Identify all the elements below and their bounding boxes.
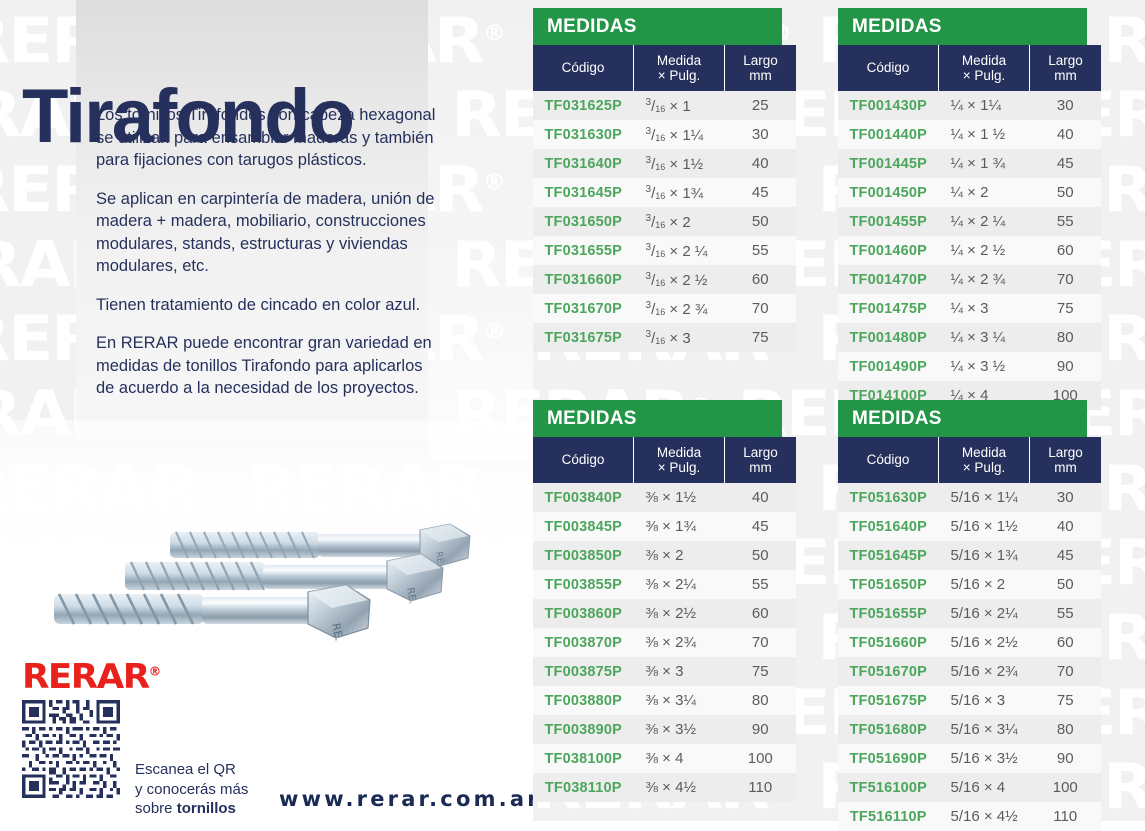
- cell-codigo: TF516100P: [838, 773, 939, 802]
- table-row: TF031650P3/16 × 250: [533, 207, 796, 236]
- cell-largo: 50: [1030, 570, 1102, 599]
- cell-largo: 30: [1030, 483, 1102, 512]
- cell-codigo: TF031670P: [533, 294, 634, 323]
- column-header-codigo: Código: [838, 437, 939, 483]
- white-fade-right: [428, 0, 533, 460]
- column-header-largo: Largomm: [725, 437, 797, 483]
- cell-codigo: TF031675P: [533, 323, 634, 352]
- rerar-logo-text: RERAR: [22, 657, 149, 697]
- measurements-table-5-16: MEDIDAS Código Medida× Pulg. Largomm TF0…: [838, 400, 1087, 831]
- cell-codigo: TF051675P: [838, 686, 939, 715]
- table-row: TF003860P⅜ × 2½60: [533, 599, 796, 628]
- cell-largo: 40: [725, 483, 797, 512]
- table-row: TF051660P5/16 × 2½60: [838, 628, 1101, 657]
- table-header-row: Código Medida× Pulg. Largomm: [838, 437, 1101, 483]
- cell-codigo: TF003890P: [533, 715, 634, 744]
- table-row: TF031675P3/16 × 375: [533, 323, 796, 352]
- cell-medida: ¼ × 3 ¼: [939, 323, 1030, 352]
- cell-codigo: TF003855P: [533, 570, 634, 599]
- cell-largo: 45: [1030, 149, 1102, 178]
- cell-medida: 3/16 × 2: [634, 207, 725, 236]
- table-body: TF003840P⅜ × 1½40TF003845P⅜ × 1¾45TF0038…: [533, 483, 796, 802]
- table-row: TF031670P3/16 × 2 ¾70: [533, 294, 796, 323]
- cell-codigo: TF001480P: [838, 323, 939, 352]
- cell-codigo: TF031640P: [533, 149, 634, 178]
- cell-codigo: TF001430P: [838, 91, 939, 120]
- cell-codigo: TF031655P: [533, 236, 634, 265]
- cell-largo: 70: [1030, 265, 1102, 294]
- table-row: TF051670P5/16 × 2¾70: [838, 657, 1101, 686]
- column-header-codigo: Código: [533, 45, 634, 91]
- cell-largo: 75: [725, 323, 797, 352]
- description-copy: Los tornillos Tirafondos con cabeza hexa…: [96, 104, 441, 416]
- cell-medida: 3/16 × 1½: [634, 149, 725, 178]
- cell-medida: ⅜ × 4: [634, 744, 725, 773]
- cell-largo: 30: [1030, 91, 1102, 120]
- cell-medida: ¼ × 2 ¾: [939, 265, 1030, 294]
- table-title: MEDIDAS: [533, 400, 782, 437]
- table-row: TF003880P⅜ × 3¼80: [533, 686, 796, 715]
- table-body: TF031625P3/16 × 125TF031630P3/16 × 1¼30T…: [533, 91, 796, 352]
- table-row: TF051640P5/16 × 1½40: [838, 512, 1101, 541]
- cell-largo: 100: [1030, 773, 1102, 802]
- table-row: TF051675P5/16 × 375: [838, 686, 1101, 715]
- cell-medida: ¼ × 1 ¾: [939, 149, 1030, 178]
- cell-medida: ⅜ × 3¼: [634, 686, 725, 715]
- cell-medida: 5/16 × 3¼: [939, 715, 1030, 744]
- cell-largo: 45: [725, 178, 797, 207]
- cell-codigo: TF001475P: [838, 294, 939, 323]
- table-row: TF051655P5/16 × 2¼55: [838, 599, 1101, 628]
- table-row: TF031645P3/16 × 1¾45: [533, 178, 796, 207]
- cell-codigo: TF051650P: [838, 570, 939, 599]
- cell-medida: ¼ × 1 ½: [939, 120, 1030, 149]
- cell-largo: 30: [725, 120, 797, 149]
- cell-largo: 100: [725, 744, 797, 773]
- qr-caption-line-3: sobre tornillos: [135, 799, 248, 819]
- cell-largo: 55: [1030, 599, 1102, 628]
- cell-codigo: TF031660P: [533, 265, 634, 294]
- cell-medida: 5/16 × 2¾: [939, 657, 1030, 686]
- cell-largo: 50: [725, 541, 797, 570]
- cell-largo: 90: [725, 715, 797, 744]
- table-row: TF051650P5/16 × 250: [838, 570, 1101, 599]
- cell-medida: ¼ × 1¼: [939, 91, 1030, 120]
- cell-codigo: TF003840P: [533, 483, 634, 512]
- table-row: TF001440P¼ × 1 ½40: [838, 120, 1101, 149]
- table-row: TF003850P⅜ × 250: [533, 541, 796, 570]
- table-row: TF001480P¼ × 3 ¼80: [838, 323, 1101, 352]
- cell-largo: 55: [725, 236, 797, 265]
- svg-text:RE.: RE.: [329, 622, 345, 642]
- table-body: TF051630P5/16 × 1¼30TF051640P5/16 × 1½40…: [838, 483, 1101, 831]
- table-header-row: Código Medida× Pulg. Largomm: [533, 45, 796, 91]
- qr-caption-line-2: y conocerás más: [135, 780, 248, 800]
- cell-medida: 3/16 × 2 ¼: [634, 236, 725, 265]
- table: Código Medida× Pulg. Largomm TF031625P3/…: [533, 45, 796, 352]
- cell-largo: 80: [725, 686, 797, 715]
- cell-medida: ¼ × 2 ¼: [939, 207, 1030, 236]
- cell-largo: 40: [1030, 512, 1102, 541]
- table-row: TF003855P⅜ × 2¼55: [533, 570, 796, 599]
- column-header-medida: Medida× Pulg.: [634, 437, 725, 483]
- cell-medida: 5/16 × 2¼: [939, 599, 1030, 628]
- cell-medida: ⅜ × 1¾: [634, 512, 725, 541]
- table-row: TF003840P⅜ × 1½40: [533, 483, 796, 512]
- cell-medida: ⅜ × 1½: [634, 483, 725, 512]
- cell-medida: 5/16 × 4½: [939, 802, 1030, 831]
- table: Código Medida× Pulg. Largomm TF003840P⅜ …: [533, 437, 796, 802]
- cell-largo: 60: [1030, 628, 1102, 657]
- table-row: TF001490P¼ × 3 ½90: [838, 352, 1101, 381]
- qr-caption-line-1: Escanea el QR: [135, 760, 248, 780]
- table-row: TF051630P5/16 × 1¼30: [838, 483, 1101, 512]
- table-row: TF051645P5/16 × 1¾45: [838, 541, 1101, 570]
- registered-mark: ®: [149, 665, 160, 679]
- table-title: MEDIDAS: [838, 400, 1087, 437]
- cell-medida: 3/16 × 1¼: [634, 120, 725, 149]
- cell-largo: 110: [725, 773, 797, 802]
- cell-codigo: TF003845P: [533, 512, 634, 541]
- table-row: TF031625P3/16 × 125: [533, 91, 796, 120]
- cell-largo: 45: [725, 512, 797, 541]
- cell-largo: 90: [1030, 744, 1102, 773]
- cell-medida: ¼ × 2 ½: [939, 236, 1030, 265]
- cell-medida: 5/16 × 2½: [939, 628, 1030, 657]
- qr-caption-prefix: sobre: [135, 800, 177, 817]
- cell-codigo: TF001445P: [838, 149, 939, 178]
- website-url[interactable]: www.rerar.com.ar: [279, 787, 541, 811]
- column-header-medida: Medida× Pulg.: [939, 437, 1030, 483]
- cell-codigo: TF031645P: [533, 178, 634, 207]
- column-header-largo: Largomm: [725, 45, 797, 91]
- cell-codigo: TF051680P: [838, 715, 939, 744]
- table-row: TF038100P⅜ × 4100: [533, 744, 796, 773]
- cell-codigo: TF051660P: [838, 628, 939, 657]
- cell-medida: ⅜ × 2¾: [634, 628, 725, 657]
- table-header-row: Código Medida× Pulg. Largomm: [533, 437, 796, 483]
- cell-codigo: TF003850P: [533, 541, 634, 570]
- rerar-logo: RERAR®: [22, 657, 160, 697]
- cell-largo: 60: [1030, 236, 1102, 265]
- table-row: TF031640P3/16 × 1½40: [533, 149, 796, 178]
- cell-largo: 80: [1030, 715, 1102, 744]
- table-row: TF001460P¼ × 2 ½60: [838, 236, 1101, 265]
- column-header-largo: Largomm: [1030, 437, 1102, 483]
- table-row: TF001470P¼ × 2 ¾70: [838, 265, 1101, 294]
- cell-largo: 110: [1030, 802, 1102, 831]
- cell-codigo: TF051655P: [838, 599, 939, 628]
- cell-largo: 75: [1030, 294, 1102, 323]
- table-row: TF001430P¼ × 1¼30: [838, 91, 1101, 120]
- cell-codigo: TF031625P: [533, 91, 634, 120]
- cell-largo: 50: [1030, 178, 1102, 207]
- cell-codigo: TF031630P: [533, 120, 634, 149]
- cell-codigo: TF001460P: [838, 236, 939, 265]
- cell-medida: ⅜ × 2½: [634, 599, 725, 628]
- copy-paragraph-3: Tienen tratamiento de cincado en color a…: [96, 294, 441, 317]
- cell-largo: 60: [725, 599, 797, 628]
- table-row: TF003870P⅜ × 2¾70: [533, 628, 796, 657]
- measurements-table-3-16: MEDIDAS Código Medida× Pulg. Largomm TF0…: [533, 8, 782, 352]
- table-row: TF001450P¼ × 250: [838, 178, 1101, 207]
- qr-caption: Escanea el QR y conocerás más sobre torn…: [135, 760, 248, 819]
- cell-codigo: TF003880P: [533, 686, 634, 715]
- cell-codigo: TF001450P: [838, 178, 939, 207]
- cell-medida: 3/16 × 3: [634, 323, 725, 352]
- qr-code[interactable]: [22, 700, 120, 798]
- cell-largo: 55: [1030, 207, 1102, 236]
- measurements-table-1-4: MEDIDAS Código Medida× Pulg. Largomm TF0…: [838, 8, 1087, 410]
- cell-largo: 40: [725, 149, 797, 178]
- copy-paragraph-2: Se aplican en carpintería de madera, uni…: [96, 188, 441, 278]
- table-row: TF001475P¼ × 375: [838, 294, 1101, 323]
- table-row: TF031660P3/16 × 2 ½60: [533, 265, 796, 294]
- cell-medida: ⅜ × 3: [634, 657, 725, 686]
- cell-largo: 70: [725, 628, 797, 657]
- table-title: MEDIDAS: [533, 8, 782, 45]
- cell-codigo: TF051630P: [838, 483, 939, 512]
- table-row: TF003875P⅜ × 375: [533, 657, 796, 686]
- column-header-medida: Medida× Pulg.: [939, 45, 1030, 91]
- cell-medida: 3/16 × 2 ¾: [634, 294, 725, 323]
- cell-medida: 3/16 × 1¾: [634, 178, 725, 207]
- cell-medida: ⅜ × 3½: [634, 715, 725, 744]
- column-header-largo: Largomm: [1030, 45, 1102, 91]
- table-row: TF516100P5/16 × 4100: [838, 773, 1101, 802]
- cell-medida: 3/16 × 1: [634, 91, 725, 120]
- table: Código Medida× Pulg. Largomm TF051630P5/…: [838, 437, 1101, 831]
- cell-largo: 60: [725, 265, 797, 294]
- cell-codigo: TF051690P: [838, 744, 939, 773]
- table-row: TF001445P¼ × 1 ¾45: [838, 149, 1101, 178]
- cell-medida: 5/16 × 3: [939, 686, 1030, 715]
- column-header-codigo: Código: [533, 437, 634, 483]
- cell-medida: 5/16 × 3½: [939, 744, 1030, 773]
- cell-medida: 5/16 × 2: [939, 570, 1030, 599]
- cell-largo: 90: [1030, 352, 1102, 381]
- cell-codigo: TF001470P: [838, 265, 939, 294]
- cell-largo: 55: [725, 570, 797, 599]
- cell-codigo: TF051670P: [838, 657, 939, 686]
- cell-codigo: TF001455P: [838, 207, 939, 236]
- cell-largo: 45: [1030, 541, 1102, 570]
- cell-largo: 70: [725, 294, 797, 323]
- cell-codigo: TF051640P: [838, 512, 939, 541]
- table: Código Medida× Pulg. Largomm TF001430P¼ …: [838, 45, 1101, 410]
- table-row: TF051680P5/16 × 3¼80: [838, 715, 1101, 744]
- cell-codigo: TF038100P: [533, 744, 634, 773]
- cell-medida: 5/16 × 4: [939, 773, 1030, 802]
- cell-medida: 5/16 × 1½: [939, 512, 1030, 541]
- cell-medida: 5/16 × 1¼: [939, 483, 1030, 512]
- column-header-medida: Medida× Pulg.: [634, 45, 725, 91]
- cell-codigo: TF001490P: [838, 352, 939, 381]
- cell-codigo: TF516110P: [838, 802, 939, 831]
- cell-medida: 5/16 × 1¾: [939, 541, 1030, 570]
- svg-text:RE.: RE.: [404, 587, 418, 605]
- cell-medida: ¼ × 3: [939, 294, 1030, 323]
- measurements-table-3-8: MEDIDAS Código Medida× Pulg. Largomm TF0…: [533, 400, 782, 802]
- cell-codigo: TF003860P: [533, 599, 634, 628]
- cell-largo: 70: [1030, 657, 1102, 686]
- table-row: TF051690P5/16 × 3½90: [838, 744, 1101, 773]
- table-body: TF001430P¼ × 1¼30TF001440P¼ × 1 ½40TF001…: [838, 91, 1101, 410]
- table-row: TF031655P3/16 × 2 ¼55: [533, 236, 796, 265]
- cell-medida: ¼ × 2: [939, 178, 1030, 207]
- table-row: TF516110P5/16 × 4½110: [838, 802, 1101, 831]
- table-row: TF003845P⅜ × 1¾45: [533, 512, 796, 541]
- cell-medida: ⅜ × 2¼: [634, 570, 725, 599]
- cell-codigo: TF003875P: [533, 657, 634, 686]
- cell-codigo: TF001440P: [838, 120, 939, 149]
- column-header-codigo: Código: [838, 45, 939, 91]
- cell-largo: 75: [725, 657, 797, 686]
- qr-caption-bold: tornillos: [177, 800, 236, 817]
- cell-codigo: TF051645P: [838, 541, 939, 570]
- table-title: MEDIDAS: [838, 8, 1087, 45]
- table-row: TF001455P¼ × 2 ¼55: [838, 207, 1101, 236]
- cell-largo: 80: [1030, 323, 1102, 352]
- cell-largo: 40: [1030, 120, 1102, 149]
- cell-largo: 75: [1030, 686, 1102, 715]
- table-row: TF038110P⅜ × 4½110: [533, 773, 796, 802]
- table-row: TF031630P3/16 × 1¼30: [533, 120, 796, 149]
- copy-paragraph-4: En RERAR puede encontrar gran variedad e…: [96, 332, 441, 400]
- copy-paragraph-1: Los tornillos Tirafondos con cabeza hexa…: [96, 104, 441, 172]
- cell-codigo: TF003870P: [533, 628, 634, 657]
- cell-largo: 25: [725, 91, 797, 120]
- cell-codigo: TF031650P: [533, 207, 634, 236]
- cell-largo: 50: [725, 207, 797, 236]
- table-row: TF003890P⅜ × 3½90: [533, 715, 796, 744]
- cell-medida: 3/16 × 2 ½: [634, 265, 725, 294]
- cell-medida: ⅜ × 4½: [634, 773, 725, 802]
- cell-medida: ⅜ × 2: [634, 541, 725, 570]
- cell-codigo: TF038110P: [533, 773, 634, 802]
- cell-medida: ¼ × 3 ½: [939, 352, 1030, 381]
- table-header-row: Código Medida× Pulg. Largomm: [838, 45, 1101, 91]
